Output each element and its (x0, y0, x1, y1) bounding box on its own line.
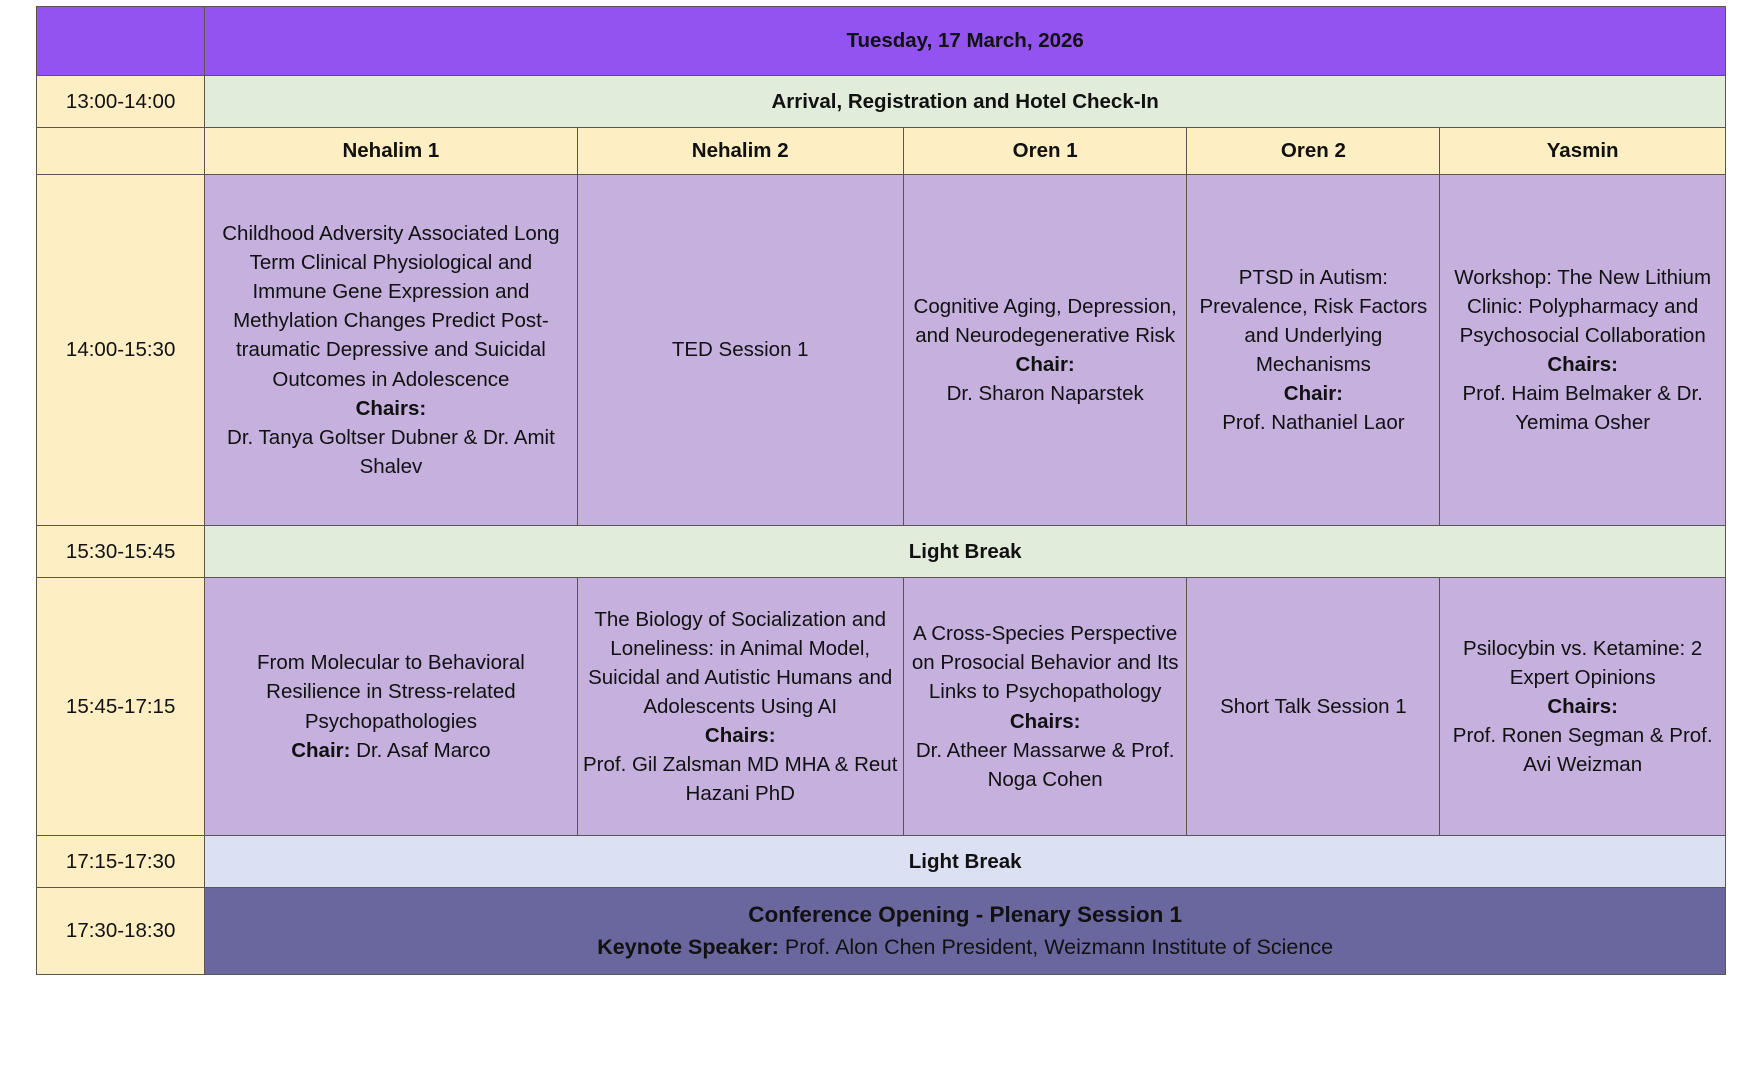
day-title-spacer (37, 7, 205, 76)
plenary-row: 17:30-18:30 Conference Opening - Plenary… (37, 888, 1726, 975)
room-header-spacer (37, 128, 205, 175)
session-chair-label: Chairs: (1445, 350, 1720, 379)
time-session-2: 15:45-17:15 (37, 578, 205, 836)
room-header-nehalim-2: Nehalim 2 (577, 128, 903, 175)
session-cell-nehalim-2[interactable]: TED Session 1 (577, 175, 903, 526)
time-arrival: 13:00-14:00 (37, 76, 205, 128)
room-header-oren-1: Oren 1 (903, 128, 1187, 175)
session-chair-inline: Chair: Dr. Asaf Marco (210, 736, 571, 765)
plenary-speaker: Keynote Speaker: Prof. Alon Chen Preside… (210, 932, 1720, 963)
session-chair-label: Chairs: (583, 721, 898, 750)
session-title: Psilocybin vs. Ketamine: 2 Expert Opinio… (1445, 634, 1720, 692)
session-chair-label: Chair: (1192, 379, 1434, 408)
room-header-row: Nehalim 1 Nehalim 2 Oren 1 Oren 2 Yasmin (37, 128, 1726, 175)
session-chair-names: Dr. Tanya Goltser Dubner & Dr. Amit Shal… (210, 423, 571, 481)
session-title: Cognitive Aging, Depression, and Neurode… (909, 292, 1182, 350)
session-chair-label: Chairs: (210, 394, 571, 423)
session-chair-names: Prof. Haim Belmaker & Dr. Yemima Osher (1445, 379, 1720, 437)
session-title: The Biology of Socialization and Lonelin… (583, 605, 898, 721)
session-cell-oren-1[interactable]: A Cross-Species Perspective on Prosocial… (903, 578, 1187, 836)
session-chair-label: Chairs: (909, 707, 1182, 736)
session-cell-nehalim-1[interactable]: From Molecular to Behavioral Resilience … (205, 578, 577, 836)
plenary-cell[interactable]: Conference Opening - Plenary Session 1 K… (205, 888, 1726, 975)
session-title: Childhood Adversity Associated Long Term… (210, 219, 571, 394)
break-label-1: Light Break (205, 526, 1726, 578)
session-cell-oren-2[interactable]: PTSD in Autism: Prevalence, Risk Factors… (1187, 175, 1440, 526)
session-cell-nehalim-2[interactable]: The Biology of Socialization and Lonelin… (577, 578, 903, 836)
room-header-nehalim-1: Nehalim 1 (205, 128, 577, 175)
session-chair-label: Chairs: (1445, 692, 1720, 721)
break-label-2: Light Break (205, 836, 1726, 888)
session-row-2: 15:45-17:15 From Molecular to Behavioral… (37, 578, 1726, 836)
time-session-1: 14:00-15:30 (37, 175, 205, 526)
room-header-yasmin: Yasmin (1440, 128, 1726, 175)
session-chair-names: Prof. Gil Zalsman MD MHA & Reut Hazani P… (583, 750, 898, 808)
time-break-1: 15:30-15:45 (37, 526, 205, 578)
session-chair-label: Chair: (291, 739, 350, 762)
session-title: PTSD in Autism: Prevalence, Risk Factors… (1192, 263, 1434, 379)
break-row-1: 15:30-15:45 Light Break (37, 526, 1726, 578)
session-chair-names: Prof. Ronen Segman & Prof. Avi Weizman (1445, 721, 1720, 779)
session-cell-yasmin[interactable]: Workshop: The New Lithium Clinic: Polyph… (1440, 175, 1726, 526)
day-title-row: Tuesday, 17 March, 2026 (37, 7, 1726, 76)
plenary-speaker-name: Prof. Alon Chen President, Weizmann Inst… (785, 935, 1333, 959)
arrival-label: Arrival, Registration and Hotel Check-In (205, 76, 1726, 128)
session-chair-names: Prof. Nathaniel Laor (1192, 408, 1434, 437)
session-row-1: 14:00-15:30 Childhood Adversity Associat… (37, 175, 1726, 526)
session-chair-names: Dr. Sharon Naparstek (909, 379, 1182, 408)
session-title: From Molecular to Behavioral Resilience … (210, 648, 571, 735)
arrival-row: 13:00-14:00 Arrival, Registration and Ho… (37, 76, 1726, 128)
plenary-title: Conference Opening - Plenary Session 1 (210, 899, 1720, 932)
session-title: Short Talk Session 1 (1192, 692, 1434, 721)
session-cell-yasmin[interactable]: Psilocybin vs. Ketamine: 2 Expert Opinio… (1440, 578, 1726, 836)
schedule-page: Tuesday, 17 March, 2026 13:00-14:00 Arri… (0, 0, 1755, 1090)
session-chair-names: Dr. Asaf Marco (356, 739, 490, 762)
session-title: TED Session 1 (583, 335, 898, 364)
time-plenary: 17:30-18:30 (37, 888, 205, 975)
break-row-2: 17:15-17:30 Light Break (37, 836, 1726, 888)
plenary-speaker-label: Keynote Speaker: (597, 935, 779, 959)
session-title: Workshop: The New Lithium Clinic: Polyph… (1445, 263, 1720, 350)
room-header-oren-2: Oren 2 (1187, 128, 1440, 175)
conference-schedule-table: Tuesday, 17 March, 2026 13:00-14:00 Arri… (36, 6, 1726, 975)
session-cell-oren-2[interactable]: Short Talk Session 1 (1187, 578, 1440, 836)
day-title: Tuesday, 17 March, 2026 (205, 7, 1726, 76)
session-title: A Cross-Species Perspective on Prosocial… (909, 619, 1182, 706)
session-chair-names: Dr. Atheer Massarwe & Prof. Noga Cohen (909, 736, 1182, 794)
session-chair-label: Chair: (909, 350, 1182, 379)
session-cell-oren-1[interactable]: Cognitive Aging, Depression, and Neurode… (903, 175, 1187, 526)
time-break-2: 17:15-17:30 (37, 836, 205, 888)
session-cell-nehalim-1[interactable]: Childhood Adversity Associated Long Term… (205, 175, 577, 526)
